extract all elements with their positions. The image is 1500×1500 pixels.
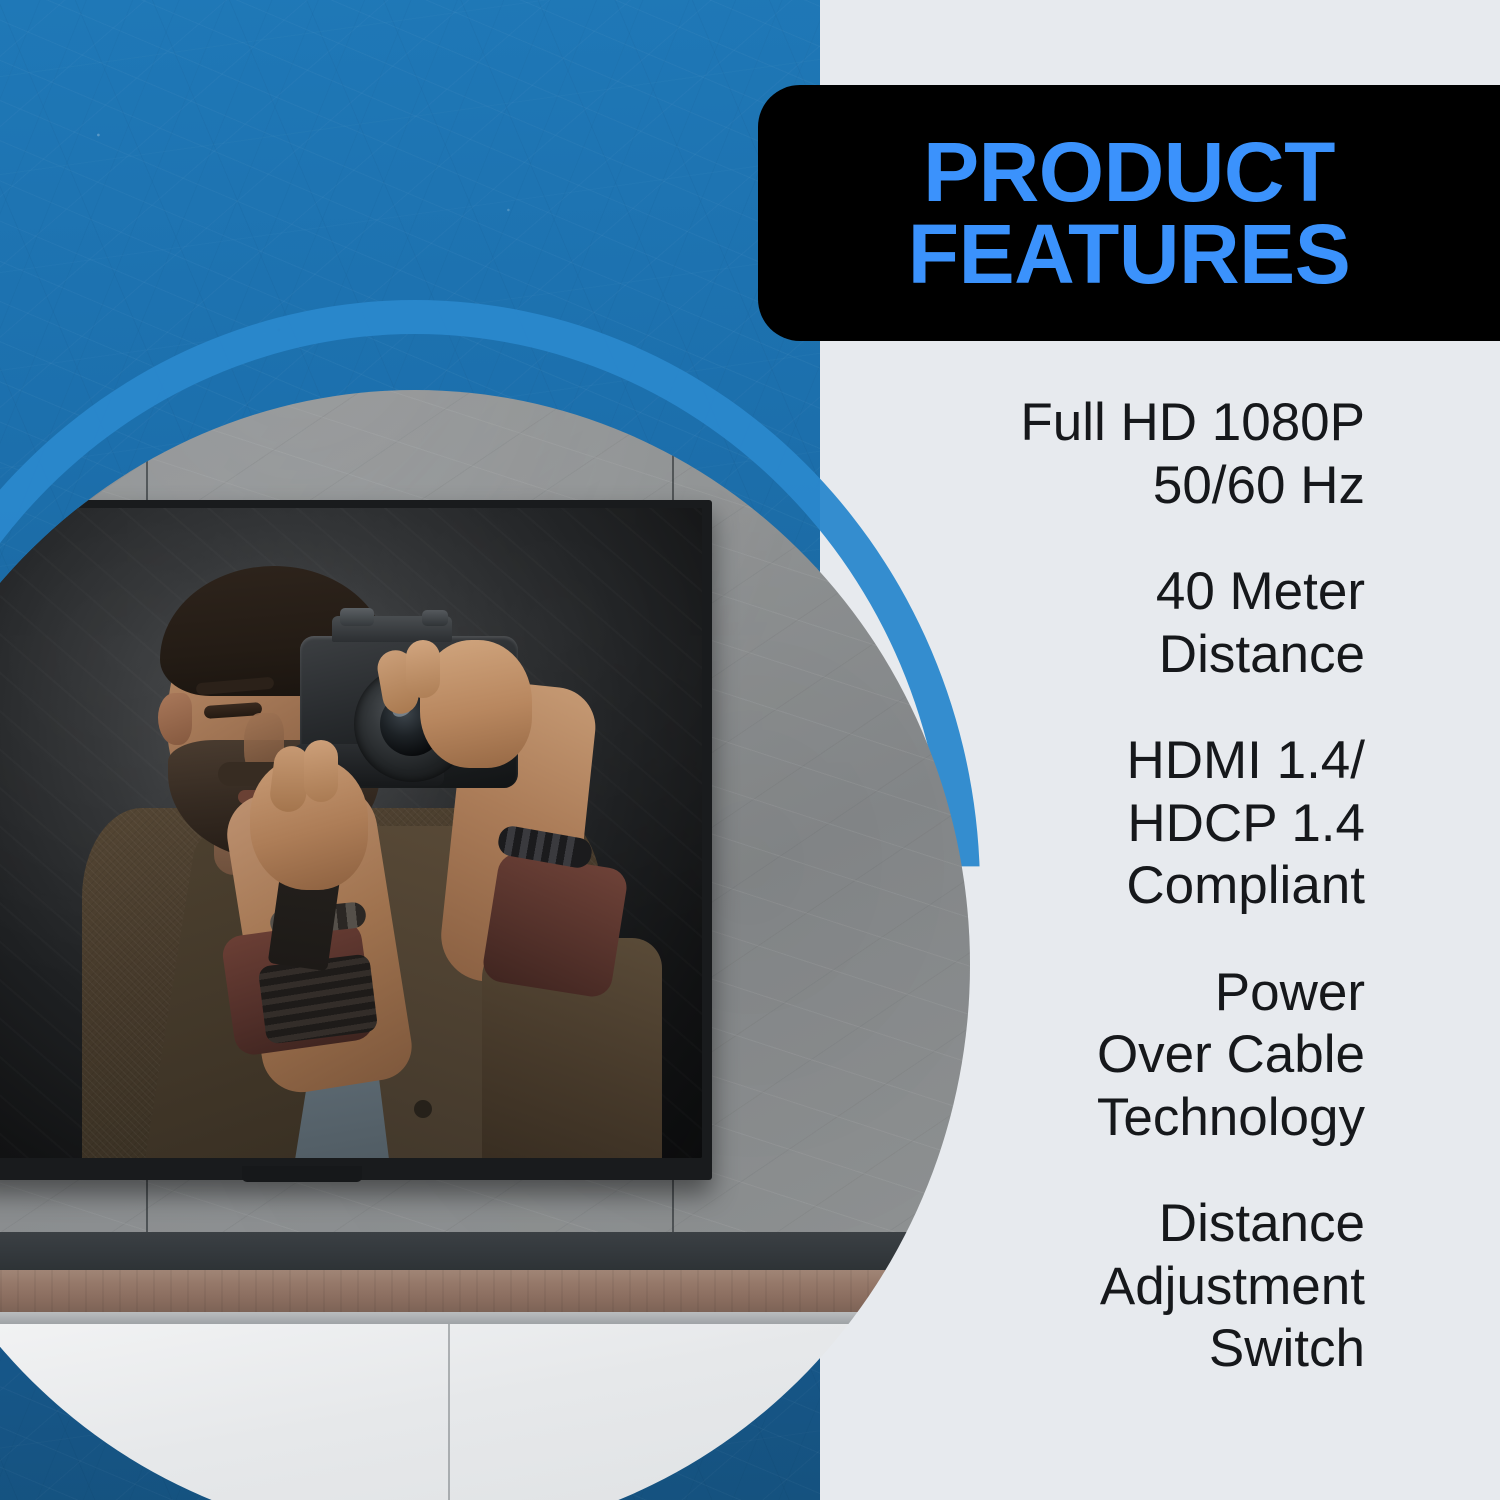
scene-content [0,390,970,1500]
wood-grain-texture [0,1270,970,1312]
page-title: PRODUCT FEATURES [884,131,1374,296]
tv-scene-ellipse-photo [0,390,970,1500]
left-finger [304,740,338,802]
photographer-figure [0,508,702,1158]
dark-wall-band [0,1232,970,1270]
feature-line: Over Cable [900,1024,1365,1087]
ear [158,693,192,745]
product-features-banner: PRODUCT FEATURES [758,85,1500,341]
feature-line: Switch [900,1318,1365,1381]
feature-line: Compliant [900,855,1365,918]
tv-mount [242,1166,362,1182]
product-features-infographic: PRODUCT FEATURES Full HD 1080P 50/60 Hz … [0,0,1500,1500]
camera-dial [340,608,374,626]
white-cabinets [0,1324,970,1500]
tv-bezel [0,508,702,1158]
feature-line: Distance [900,1193,1365,1256]
television [0,500,712,1180]
tv-screen [0,508,702,1158]
feature-line: Technology [900,1087,1365,1150]
feature-line: 40 Meter [900,561,1365,624]
title-line-2: FEATURES [908,213,1350,295]
feature-line: HDMI 1.4/ [900,730,1365,793]
feature-item-distance-adjustment: Distance Adjustment Switch [900,1193,1365,1381]
feature-line: Adjustment [900,1256,1365,1319]
wood-shelf [0,1270,970,1312]
feature-item-hdmi-hdcp: HDMI 1.4/ HDCP 1.4 Compliant [900,730,1365,918]
shelf-underside [0,1312,970,1324]
title-line-1: PRODUCT [923,125,1335,219]
feature-item-full-hd: Full HD 1080P 50/60 Hz [900,392,1365,517]
feature-line: Distance [900,624,1365,687]
feature-item-power-over-cable: Power Over Cable Technology [900,962,1365,1150]
feature-item-distance-40m: 40 Meter Distance [900,561,1365,686]
feature-line: Full HD 1080P [900,392,1365,455]
feature-line: 50/60 Hz [900,455,1365,518]
feature-line: Power [900,962,1365,1025]
cabinet-seam [448,1324,450,1500]
feature-line: HDCP 1.4 [900,793,1365,856]
right-finger [406,640,440,698]
jacket-button [414,1100,432,1118]
right-cuff [481,851,630,1000]
camera-shutter-dial [422,610,448,626]
feature-list: Full HD 1080P 50/60 Hz 40 Meter Distance… [900,392,1365,1381]
